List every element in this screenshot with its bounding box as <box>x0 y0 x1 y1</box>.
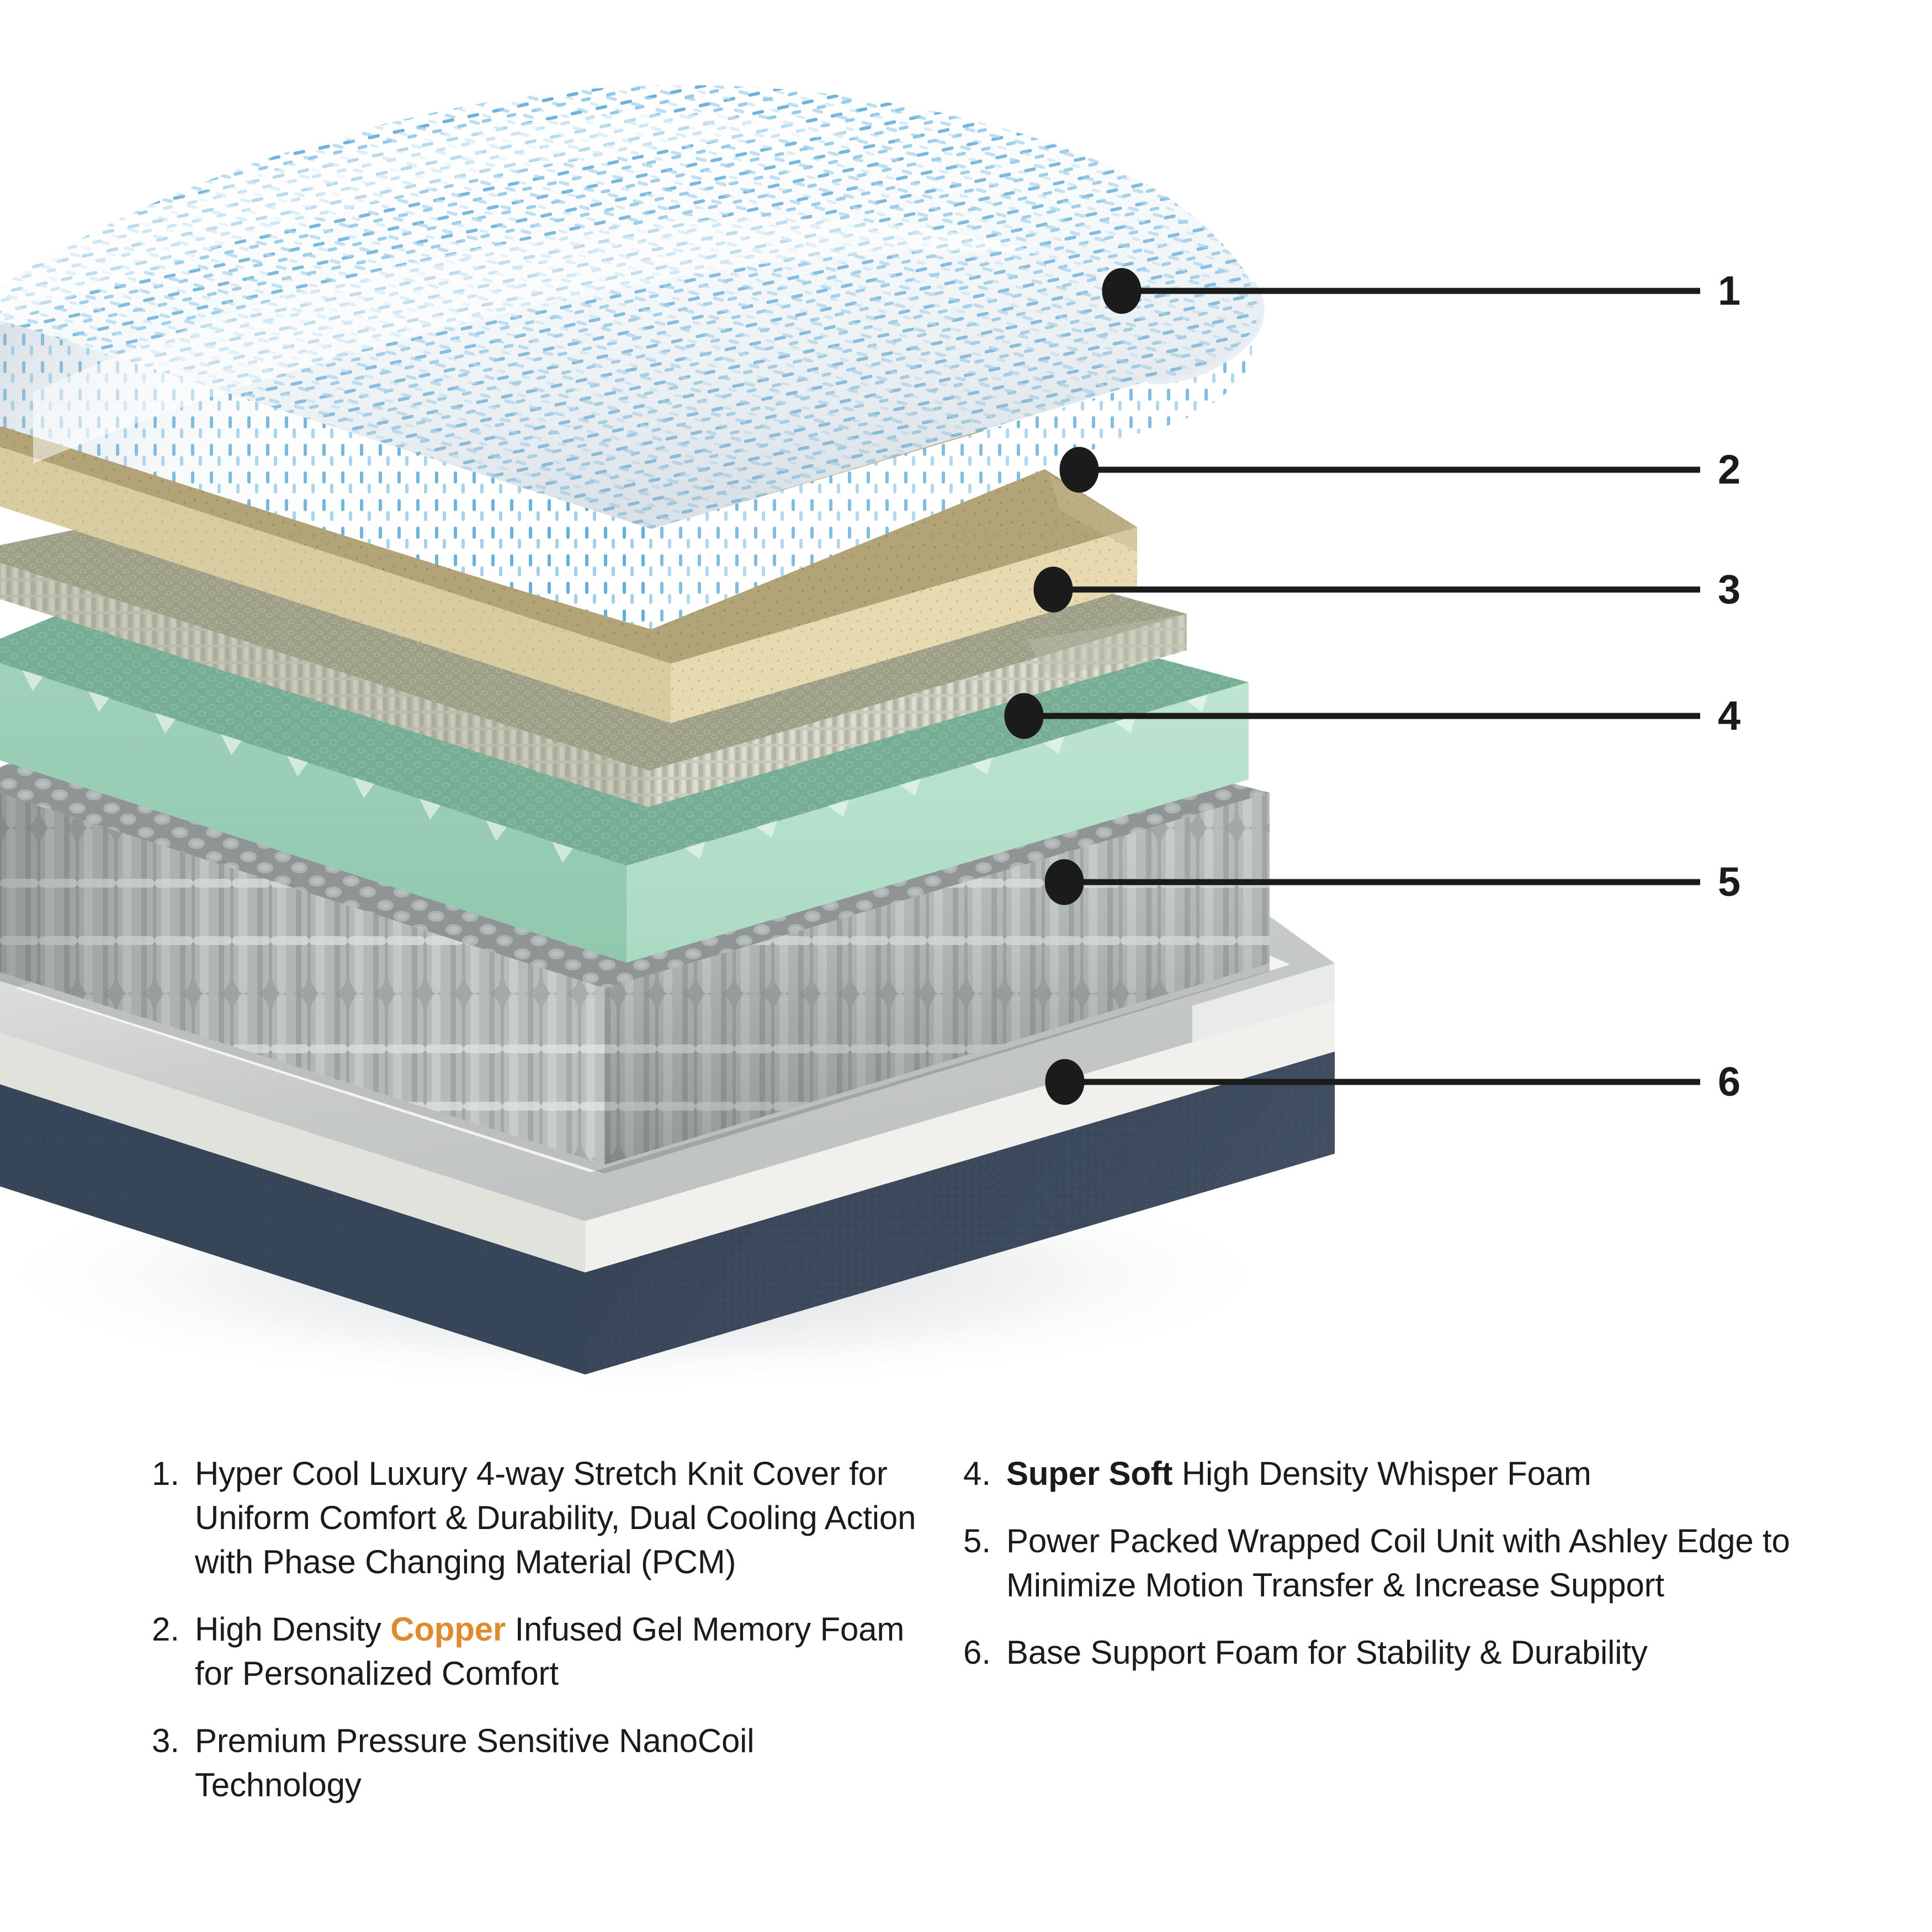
callout-2 <box>1063 450 1700 490</box>
mattress-cutaway-illustration <box>0 0 1932 1435</box>
legend-index-1: 1. <box>152 1452 195 1496</box>
callout-number-1: 1 <box>1718 270 1740 311</box>
legend-item-5: 5. Power Packed Wrapped Coil Unit with A… <box>963 1519 1824 1607</box>
callout-number-6: 6 <box>1718 1061 1740 1102</box>
legend-column-left: 1. Hyper Cool Luxury 4-way Stretch Knit … <box>152 1452 925 1830</box>
legend-item-1: 1. Hyper Cool Luxury 4-way Stretch Knit … <box>152 1452 925 1584</box>
legend-column-right: 4. Super Soft High Density Whisper Foam … <box>963 1452 1824 1698</box>
callout-number-3: 3 <box>1718 569 1740 610</box>
legend: 1. Hyper Cool Luxury 4-way Stretch Knit … <box>0 1452 1932 1932</box>
legend-index-4: 4. <box>963 1452 1006 1496</box>
legend-item-4: 4. Super Soft High Density Whisper Foam <box>963 1452 1824 1496</box>
callout-number-5: 5 <box>1718 862 1740 903</box>
legend-index-2: 2. <box>152 1607 195 1652</box>
mattress-layer-diagram: 1 2 3 4 5 6 1. Hyper Cool Luxury 4-way S… <box>0 0 1932 1932</box>
legend-index-6: 6. <box>963 1631 1006 1675</box>
legend-text-6: Base Support Foam for Stability & Durabi… <box>1006 1631 1824 1675</box>
legend-text-2: High Density Copper Infused Gel Memory F… <box>195 1607 925 1696</box>
callout-number-4: 4 <box>1718 696 1740 736</box>
legend-index-3: 3. <box>152 1719 195 1763</box>
legend-item-2: 2. High Density Copper Infused Gel Memor… <box>152 1607 925 1696</box>
legend-item-3: 3. Premium Pressure Sensitive NanoCoil T… <box>152 1719 925 1807</box>
legend-text-1: Hyper Cool Luxury 4-way Stretch Knit Cov… <box>195 1452 925 1584</box>
legend-index-5: 5. <box>963 1519 1006 1563</box>
legend-text-3: Premium Pressure Sensitive NanoCoil Tech… <box>195 1719 925 1807</box>
callout-number-2: 2 <box>1718 449 1740 490</box>
legend-text-4: Super Soft High Density Whisper Foam <box>1006 1452 1824 1496</box>
legend-item-6: 6. Base Support Foam for Stability & Dur… <box>963 1631 1824 1675</box>
legend-text-5: Power Packed Wrapped Coil Unit with Ashl… <box>1006 1519 1824 1607</box>
